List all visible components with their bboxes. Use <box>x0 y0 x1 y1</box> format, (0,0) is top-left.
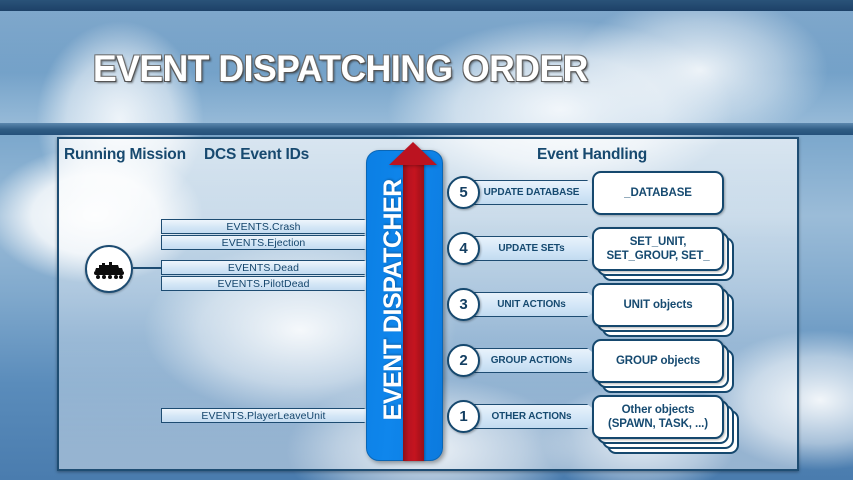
row-number-badge: 5 <box>447 176 480 209</box>
action-chevron-update-sets[interactable]: UPDATE SETs <box>471 236 603 261</box>
row-number-badge: 4 <box>447 232 480 265</box>
object-line-1: Other objects <box>622 403 695 417</box>
action-label: UPDATE DATABASE <box>484 187 580 198</box>
action-label: UPDATE SETs <box>498 243 564 254</box>
object-box-other[interactable]: Other objects (SPAWN, TASK, ...) <box>592 395 724 439</box>
diagram-panel: Running Mission DCS Event IDs Event Hand… <box>57 137 799 471</box>
object-line-2: SET_GROUP, SET_ <box>606 249 709 263</box>
column-header-dcs-event-ids: DCS Event IDs <box>204 146 309 164</box>
action-chevron-update-database[interactable]: UPDATE DATABASE <box>471 180 603 205</box>
row-number-badge: 3 <box>447 288 480 321</box>
object-line-1: GROUP objects <box>616 354 700 368</box>
action-label: OTHER ACTIONs <box>492 411 572 422</box>
dispatch-row-5: 5 UPDATE DATABASE _DATABASE <box>59 171 801 217</box>
action-label: UNIT ACTIONs <box>497 299 565 310</box>
page-title: EVENT DISPATCHING ORDER <box>93 48 588 90</box>
row-number-badge: 2 <box>447 344 480 377</box>
object-line-1: UNIT objects <box>623 298 692 312</box>
column-header-event-handling: Event Handling <box>537 146 647 164</box>
object-box-wrap: Other objects (SPAWN, TASK, ...) <box>592 395 734 441</box>
object-box-wrap: _DATABASE <box>592 171 734 217</box>
action-chevron-unit-actions[interactable]: UNIT ACTIONs <box>471 292 603 317</box>
object-box-sets[interactable]: SET_UNIT, SET_GROUP, SET_ <box>592 227 724 271</box>
row-number-badge: 1 <box>447 400 480 433</box>
object-box-wrap: GROUP objects <box>592 339 734 385</box>
title-bottom-rule <box>0 123 853 135</box>
object-box-group[interactable]: GROUP objects <box>592 339 724 383</box>
action-chevron-other-actions[interactable]: OTHER ACTIONs <box>471 404 603 429</box>
object-box-unit[interactable]: UNIT objects <box>592 283 724 327</box>
object-box-wrap: SET_UNIT, SET_GROUP, SET_ <box>592 227 734 273</box>
order-arrow-head-icon <box>389 142 437 165</box>
dispatch-row-1: 1 OTHER ACTIONs Other objects (SPAWN, TA… <box>59 395 801 441</box>
dispatch-row-2: 2 GROUP ACTIONs GROUP objects <box>59 339 801 385</box>
object-line-2: (SPAWN, TASK, ...) <box>608 417 708 431</box>
top-accent-rule <box>0 0 853 11</box>
dispatch-row-4: 4 UPDATE SETs SET_UNIT, SET_GROUP, SET_ <box>59 227 801 273</box>
object-line-1: _DATABASE <box>624 186 692 200</box>
object-box-database[interactable]: _DATABASE <box>592 171 724 215</box>
action-chevron-group-actions[interactable]: GROUP ACTIONs <box>471 348 603 373</box>
action-label: GROUP ACTIONs <box>491 355 573 366</box>
column-header-running-mission: Running Mission <box>64 146 186 164</box>
object-line-1: SET_UNIT, <box>630 235 687 249</box>
dispatch-row-3: 3 UNIT ACTIONs UNIT objects <box>59 283 801 329</box>
object-box-wrap: UNIT objects <box>592 283 734 329</box>
